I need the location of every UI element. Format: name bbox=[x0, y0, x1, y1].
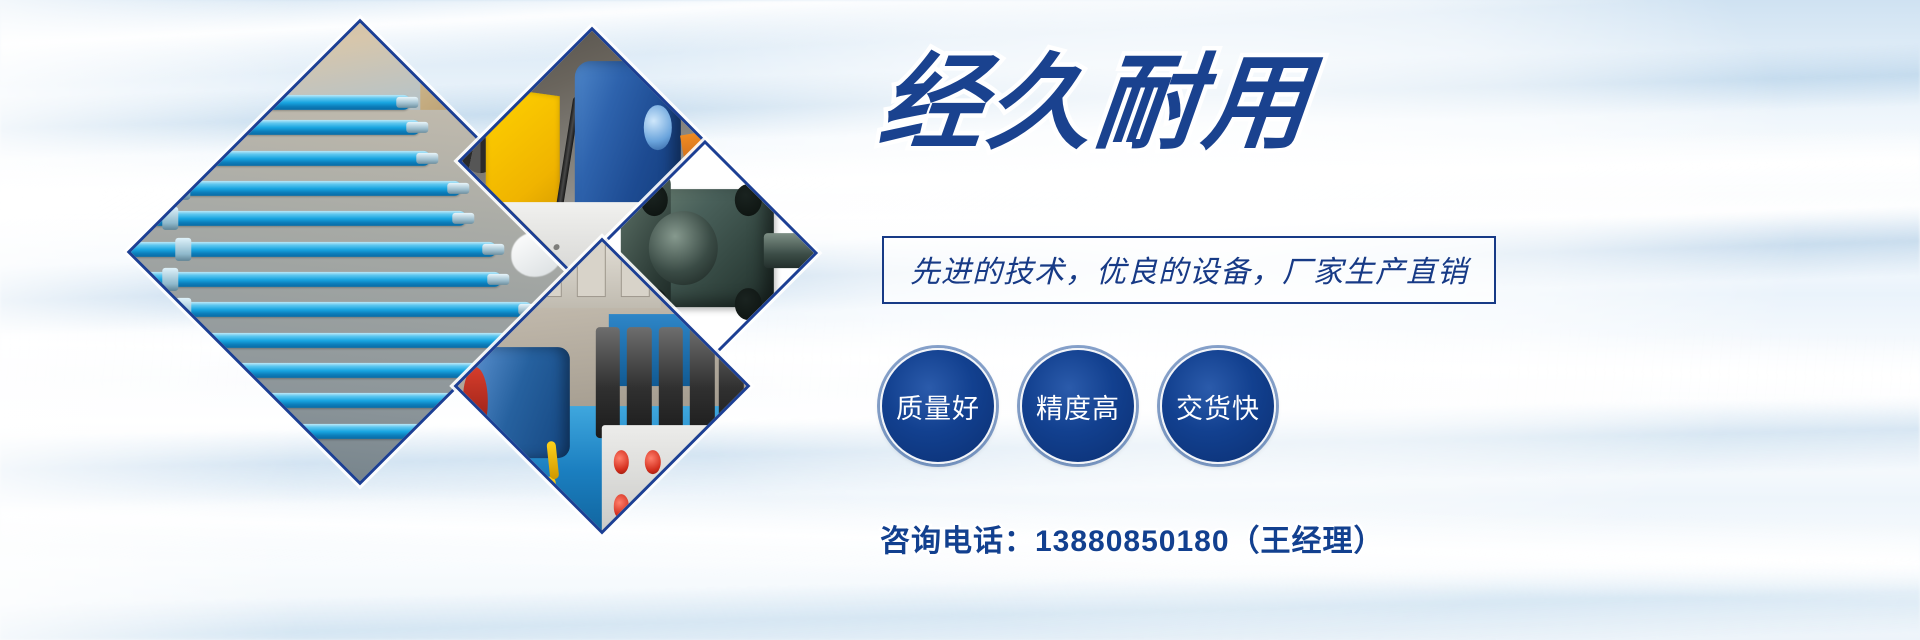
banner-subtitle-box: 先进的技术，优良的设备，厂家生产直销 bbox=[882, 236, 1496, 304]
banner-subtitle: 先进的技术，优良的设备，厂家生产直销 bbox=[910, 256, 1468, 289]
valve-manifold bbox=[602, 425, 746, 534]
contact-phone-line[interactable]: 咨询电话：13880850180（王经理） bbox=[880, 516, 1385, 560]
pump-shaft bbox=[764, 233, 813, 267]
feature-badge-group: 质量好 精度高 交货快 bbox=[880, 348, 1276, 464]
feature-badge-delivery[interactable]: 交货快 bbox=[1160, 348, 1276, 464]
promo-banner: 经久耐用 先进的技术，优良的设备，厂家生产直销 质量好 精度高 交货快 咨询电话… bbox=[0, 0, 1920, 640]
banner-text-column: 经久耐用 先进的技术，优良的设备，厂家生产直销 质量好 精度高 交货快 咨询电话… bbox=[860, 0, 1920, 640]
feature-badge-precision[interactable]: 精度高 bbox=[1020, 348, 1136, 464]
diamond-photo-collage bbox=[0, 0, 880, 640]
control-box bbox=[680, 31, 726, 119]
pump-rim bbox=[648, 211, 717, 285]
yellow-pipe bbox=[457, 476, 557, 515]
feature-badge-quality[interactable]: 质量好 bbox=[880, 348, 996, 464]
station-motor bbox=[471, 347, 569, 458]
banner-headline: 经久耐用 bbox=[874, 48, 1318, 160]
